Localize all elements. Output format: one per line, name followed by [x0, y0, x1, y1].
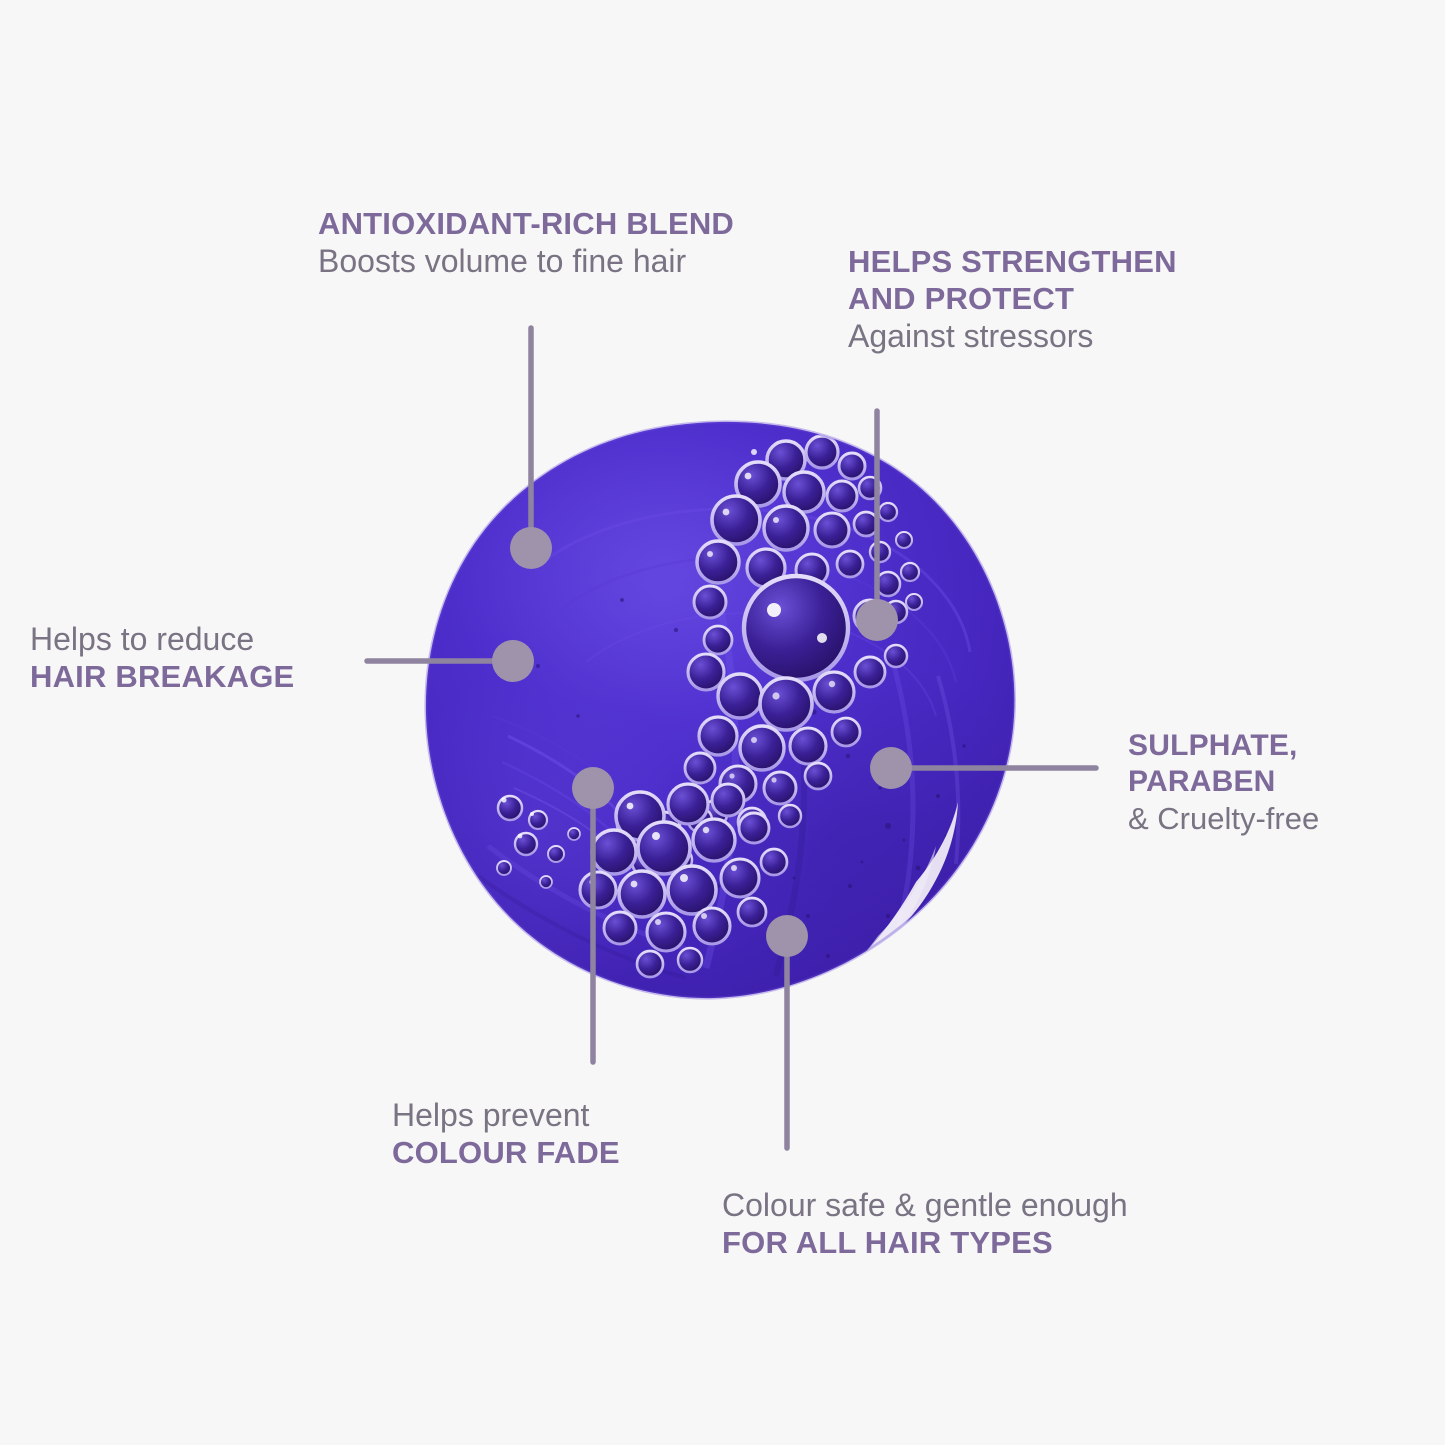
callout-strengthen-light: Against stressors: [848, 317, 1177, 355]
callout-antioxidant-bold: ANTIOXIDANT-RICH BLEND: [318, 205, 734, 242]
callout-strengthen-bold-line2: AND PROTECT: [848, 280, 1177, 317]
callout-sulphate-paraben-cruelty-free: SULPHATE, PARABEN & Cruelty-free: [1128, 728, 1319, 837]
infographic-canvas: ANTIOXIDANT-RICH BLEND Boosts volume to …: [0, 0, 1445, 1445]
callout-antioxidant-rich-blend: ANTIOXIDANT-RICH BLEND Boosts volume to …: [318, 205, 734, 281]
callout-sulphate-light: & Cruelty-free: [1128, 800, 1319, 837]
callout-strengthen-bold-line1: HELPS STRENGTHEN: [848, 243, 1177, 280]
callout-breakage-light: Helps to reduce: [30, 620, 294, 658]
callout-antioxidant-light: Boosts volume to fine hair: [318, 242, 734, 280]
callout-hairtypes-light: Colour safe & gentle enough: [722, 1186, 1128, 1224]
callout-breakage-bold: HAIR BREAKAGE: [30, 658, 294, 695]
callout-colourfade-light: Helps prevent: [392, 1096, 620, 1134]
callout-sulphate-bold-line1: SULPHATE,: [1128, 728, 1319, 764]
product-swatch: [418, 416, 1022, 1014]
callout-hairtypes-bold: FOR ALL HAIR TYPES: [722, 1224, 1128, 1261]
callout-sulphate-bold-line2: PARABEN: [1128, 764, 1319, 800]
callout-colour-fade: Helps prevent COLOUR FADE: [392, 1096, 620, 1172]
callout-hair-breakage: Helps to reduce HAIR BREAKAGE: [30, 620, 294, 696]
callout-for-all-hair-types: Colour safe & gentle enough FOR ALL HAIR…: [722, 1186, 1128, 1262]
callout-helps-strengthen-and-protect: HELPS STRENGTHEN AND PROTECT Against str…: [848, 243, 1177, 356]
callout-colourfade-bold: COLOUR FADE: [392, 1134, 620, 1171]
